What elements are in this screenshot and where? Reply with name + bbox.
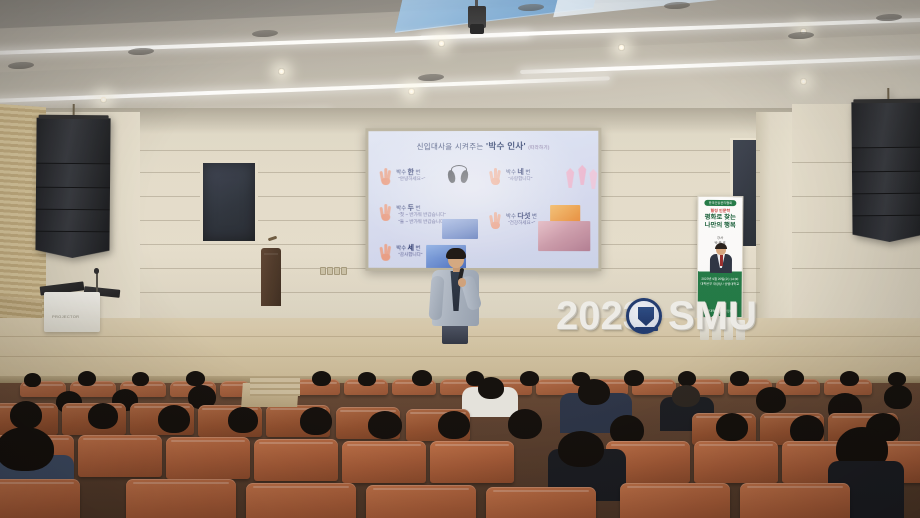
clapping-hands-icon xyxy=(380,204,391,221)
downlight xyxy=(100,96,107,103)
wall-seam xyxy=(792,268,920,269)
wall-pilaster xyxy=(756,112,792,326)
audience-head xyxy=(312,371,331,386)
speaker-cabinet xyxy=(852,148,920,173)
audience-head xyxy=(478,377,504,399)
speaker-bar xyxy=(39,115,109,120)
audience-head xyxy=(368,411,402,439)
audience-head xyxy=(624,370,644,386)
presenter-hand xyxy=(458,278,466,287)
speaker-cabinet xyxy=(36,164,110,189)
slide-item-quote: "감사합니다" xyxy=(398,252,422,259)
clapping-hands-icon xyxy=(490,168,501,185)
downlight xyxy=(408,88,415,95)
slide-photo-thumbnail xyxy=(538,221,590,251)
presenter-hair xyxy=(446,248,466,259)
banner-speaker-photo xyxy=(709,243,733,273)
audience-head xyxy=(412,370,432,386)
slide-item: 박수 두 번 "첫 ~ 반가워 반갑습니다""둘 ~ 반가워 반갑습니다" xyxy=(380,203,484,233)
slide-item-quote: "사랑합니다" xyxy=(508,176,532,183)
banner-date-line2: 대학본부 대강당 / 상명대학교 xyxy=(700,282,739,286)
audience-head xyxy=(520,371,539,386)
aisle-steps xyxy=(250,378,300,396)
label-big: 다섯 xyxy=(517,213,530,220)
audience-head xyxy=(186,371,205,386)
speaker-cabinet xyxy=(852,194,920,217)
audience-head xyxy=(730,371,749,386)
slide-item: 박수 다섯 번 "건강하세요~" xyxy=(490,211,596,257)
clapping-hands-icon xyxy=(380,168,391,185)
audience-head xyxy=(78,371,96,386)
speaker-cabinet-bottom xyxy=(852,216,920,243)
photo-tie xyxy=(719,255,722,266)
banner-headline: 평화로 찾는 나만의 행복 xyxy=(698,214,742,230)
recessed-fixture xyxy=(788,31,814,39)
banner-headline-line1: 평화로 찾는 xyxy=(705,214,736,221)
audience-head xyxy=(672,385,700,407)
ribbon xyxy=(578,165,586,185)
audience-head xyxy=(300,407,332,435)
slide-item-quote: "첫 ~ 반가워 반갑습니다""둘 ~ 반가워 반갑습니다" xyxy=(398,212,446,226)
seat xyxy=(126,479,236,518)
ceiling-projector xyxy=(468,6,486,28)
ribbon xyxy=(566,168,574,188)
audience-head xyxy=(88,403,118,429)
slide-item: 박수 한 번 "안녕하세요~" xyxy=(380,167,484,193)
label-big: 네 xyxy=(517,169,523,176)
banner-headline-line2: 나만의 행복 xyxy=(705,222,736,229)
slide-title: 신입대사을 시켜주는 '박수 인사' (따라하기) xyxy=(368,140,598,152)
audience-head xyxy=(10,401,42,429)
seat xyxy=(740,483,850,518)
clapping-hands-icon xyxy=(380,244,391,261)
outlet xyxy=(341,267,347,275)
ceiling-light-strip xyxy=(520,54,920,74)
seat xyxy=(254,439,338,481)
downlight xyxy=(800,78,807,85)
floor-seam xyxy=(0,356,920,357)
banner-date-line1: 2023년 9월 20일(수) 14:00 xyxy=(701,277,738,281)
speaker-cabinet-bottom xyxy=(35,232,109,259)
banner-org-tag: 한국건강관리협회 xyxy=(704,200,736,206)
downlight xyxy=(618,44,625,51)
audience-head xyxy=(158,405,190,433)
audience-head xyxy=(784,370,804,386)
audience-head xyxy=(884,385,912,409)
seat xyxy=(246,483,356,518)
banner-date: 2023년 9월 20일(수) 14:00 대학본부 대강당 / 상명대학교 xyxy=(698,277,742,287)
audience-head xyxy=(438,411,470,439)
line-array-speaker-left xyxy=(35,118,110,259)
university-crest-icon xyxy=(626,298,662,334)
banner-speaker-role: 강사 xyxy=(717,236,723,240)
slide-photo-thumbnail xyxy=(442,219,478,239)
wall-outlets xyxy=(320,267,347,275)
slide-title-highlight: '박수 인사' xyxy=(486,141,526,151)
seat xyxy=(342,441,426,483)
label-big: 세 xyxy=(408,245,414,252)
seat xyxy=(0,479,80,518)
label-big: 한 xyxy=(408,169,414,176)
letter-initials: SMU xyxy=(668,296,757,336)
audience-head xyxy=(508,409,542,439)
speaker-cabinet xyxy=(36,210,110,233)
recessed-fixture xyxy=(418,73,444,81)
clapping-hands-icon xyxy=(490,212,501,229)
audience-head xyxy=(716,413,748,441)
seat xyxy=(620,483,730,518)
seat xyxy=(486,487,596,518)
microphone-stand xyxy=(96,272,98,294)
audience-head xyxy=(678,371,696,386)
outlet xyxy=(327,267,333,275)
audience-head xyxy=(888,372,906,386)
av-cart-label: PROJECTOR xyxy=(52,314,79,319)
seat xyxy=(78,435,162,477)
speaker-cabinet xyxy=(36,118,110,165)
audience-head xyxy=(0,427,54,471)
audience-head xyxy=(24,373,41,387)
auditorium-photo: 신입대사을 시켜주는 '박수 인사' (따라하기) 박수 한 번 "안녕하세요~… xyxy=(0,0,920,518)
audience-head xyxy=(840,371,859,386)
audience-seating-area xyxy=(0,383,920,518)
projection-screen: 신입대사을 시켜주는 '박수 인사' (따라하기) 박수 한 번 "안녕하세요~… xyxy=(365,128,601,271)
microphone-head xyxy=(94,268,99,274)
speaker-cabinet xyxy=(852,172,920,195)
slide-column-right: 박수 네 번 "사랑합니다" 박수 다섯 xyxy=(490,167,596,267)
slide-item-quote: "건강하세요~" xyxy=(508,220,535,227)
slide-title-prefix: 신입대사을 시켜주는 xyxy=(417,142,484,151)
outlet xyxy=(320,267,326,275)
speaker-cabinet xyxy=(36,188,110,211)
line-array-speaker-right xyxy=(851,102,920,243)
seat xyxy=(430,441,514,483)
audience-head xyxy=(228,407,258,433)
penguin-illustration xyxy=(442,165,476,187)
slide-item: 박수 네 번 "사랑합니다" xyxy=(490,167,596,201)
photo-hair xyxy=(715,243,727,249)
ribbon-illustration xyxy=(564,165,598,191)
av-equipment-cart: PROJECTOR xyxy=(44,292,100,332)
audience-head xyxy=(132,372,149,386)
slide-title-suffix: (따라하기) xyxy=(528,145,549,150)
presenter-person xyxy=(428,250,482,342)
audience-head xyxy=(358,372,376,386)
speaker-cabinet xyxy=(851,102,920,149)
audience-head xyxy=(756,387,786,413)
seat xyxy=(366,485,476,518)
projected-slide: 신입대사을 시켜주는 '박수 인사' (따라하기) 박수 한 번 "안녕하세요~… xyxy=(368,131,598,268)
outlet xyxy=(334,267,340,275)
wall-display-panel-left xyxy=(200,160,258,244)
ceiling-light-strip xyxy=(0,76,610,103)
downlight xyxy=(438,40,445,47)
wooden-lectern xyxy=(261,248,281,306)
banner-org-tag-text: 한국건강관리협회 xyxy=(704,200,736,206)
speaker-bar xyxy=(853,99,920,104)
slide-item-quote: "안녕하세요~" xyxy=(398,176,425,183)
presenter-legs xyxy=(442,324,468,344)
downlight xyxy=(278,68,285,75)
seat xyxy=(166,437,250,479)
seat xyxy=(694,441,778,483)
ribbon xyxy=(589,169,597,189)
audience-head xyxy=(558,431,604,467)
label-big: 두 xyxy=(408,205,414,212)
audience-head xyxy=(578,379,610,405)
